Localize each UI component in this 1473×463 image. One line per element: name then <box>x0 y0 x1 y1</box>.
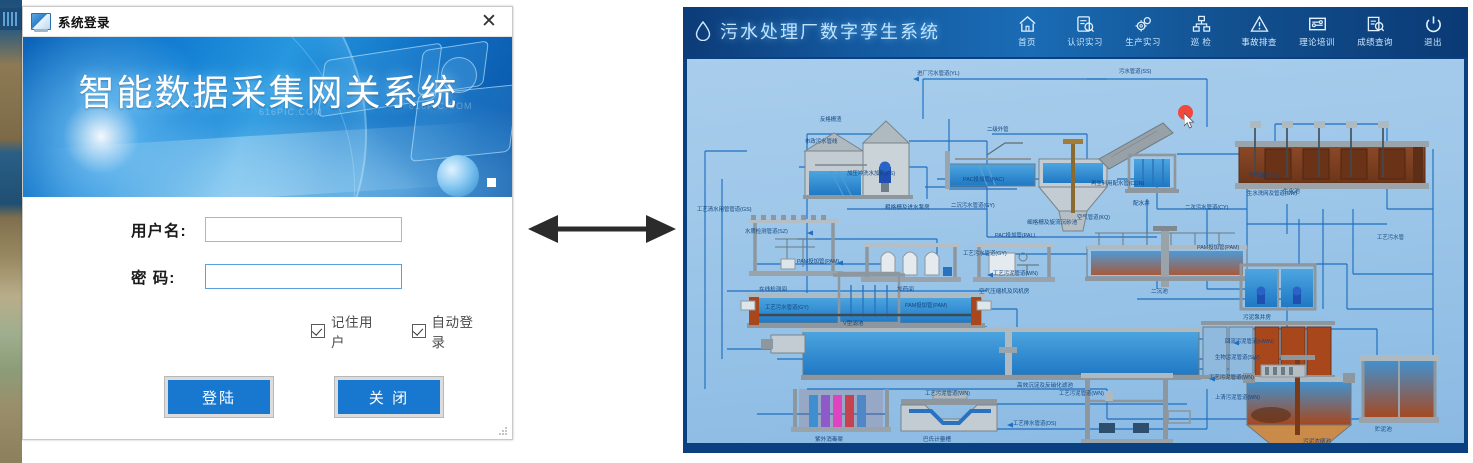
desktop-background-strip <box>0 0 22 463</box>
svg-text:PAM投加管(PAM): PAM投加管(PAM) <box>905 301 948 309</box>
svg-text:生物污泥管道(SW): 生物污泥管道(SW) <box>1215 353 1260 361</box>
svg-text:PAM投加管(PAM): PAM投加管(PAM) <box>1197 243 1240 251</box>
svg-text:再生利用配水管(CON): 再生利用配水管(CON) <box>1091 179 1145 187</box>
home-icon <box>1018 14 1037 33</box>
power-icon <box>1424 14 1443 33</box>
svg-text:工艺清水用管管道(GS): 工艺清水用管管道(GS) <box>697 205 752 213</box>
svg-text:空气管道(KQ): 空气管道(KQ) <box>1077 213 1110 221</box>
svg-text:空气压缩机及风机房: 空气压缩机及风机房 <box>979 287 1030 295</box>
window-title: 系统登录 <box>58 12 110 31</box>
svg-text:工艺污泥管道(WN): 工艺污泥管道(WN) <box>993 269 1038 277</box>
scada-header: 污水处理厂数字孪生系统 首页 认识实习 生产实习 <box>683 7 1468 57</box>
svg-text:紫外消毒渠: 紫外消毒渠 <box>815 435 843 443</box>
nav-item-accident-investigation[interactable]: 事故排查 <box>1230 11 1288 48</box>
svg-text:工艺污水管道(GY): 工艺污水管道(GY) <box>765 303 809 311</box>
report-search-icon <box>1366 14 1385 33</box>
nav-item-home[interactable]: 首页 <box>998 11 1056 48</box>
resize-grip[interactable] <box>499 427 508 436</box>
banner-square-accent <box>487 178 496 187</box>
svg-text:V型滤池: V型滤池 <box>843 319 864 327</box>
login-button[interactable]: 登陆 <box>165 377 273 417</box>
remember-user-label: 记住用户 <box>331 311 384 351</box>
login-form: 用户名: 密 码: 记住用户 自动登录 登陆 关 闭 <box>23 197 512 439</box>
password-row: 密 码: <box>131 242 512 289</box>
svg-text:加压冲洗水加药(FS): 加压冲洗水加药(FS) <box>847 169 895 177</box>
svg-text:生水洗网及管道(SW): 生水洗网及管道(SW) <box>1247 189 1297 197</box>
password-label: 密 码: <box>131 266 205 288</box>
svg-text:PAC投加管(PAC): PAC投加管(PAC) <box>963 175 1004 183</box>
svg-text:工艺污泥管道(WN): 工艺污泥管道(WN) <box>925 389 970 397</box>
brand: 污水处理厂数字孪生系统 <box>695 18 940 44</box>
close-icon[interactable]: ✕ <box>472 9 506 35</box>
svg-text:PAC投加管(PAL): PAC投加管(PAL) <box>995 231 1035 239</box>
nav-item-theory-training[interactable]: 理论培训 <box>1288 11 1346 48</box>
gears-icon <box>1134 14 1153 33</box>
svg-text:工艺污泥管道(WN): 工艺污泥管道(WN) <box>1059 389 1104 397</box>
nav-item-production-practice[interactable]: 生产实习 <box>1114 11 1172 48</box>
remember-user-checkbox[interactable]: 记住用户 <box>311 311 384 351</box>
svg-text:在线检测间: 在线检测间 <box>759 285 787 293</box>
nav-item-inspection[interactable]: 巡 检 <box>1172 11 1230 48</box>
checkmark-icon <box>311 324 325 338</box>
svg-text:空气输送(KQ): 空气输送(KQ) <box>1249 171 1282 179</box>
nav-label-logout: 退出 <box>1424 36 1442 48</box>
username-input[interactable] <box>205 217 402 242</box>
svg-text:工艺排水管道(DS): 工艺排水管道(DS) <box>1013 419 1057 427</box>
svg-text:巴氏计量槽: 巴氏计量槽 <box>923 435 951 443</box>
transition-arrow-icon <box>528 212 676 246</box>
svg-text:回流污泥管道(HWN): 回流污泥管道(HWN) <box>1225 337 1274 345</box>
nav-item-cognitive-practice[interactable]: 认识实习 <box>1056 11 1114 48</box>
username-row: 用户名: <box>131 197 512 242</box>
svg-text:加药间: 加药间 <box>897 285 914 293</box>
svg-text:反格栅渣: 反格栅渣 <box>820 115 842 123</box>
svg-text:工艺污泥管道(WN): 工艺污泥管道(WN) <box>1209 373 1254 381</box>
scada-nav: 首页 认识实习 生产实习 巡 检 <box>998 11 1462 48</box>
auto-login-label: 自动登录 <box>432 311 485 351</box>
nav-label-score-query: 成绩查询 <box>1357 36 1393 48</box>
nav-item-score-query[interactable]: 成绩查询 <box>1346 11 1404 48</box>
checkmark-icon <box>412 324 426 338</box>
login-banner: 616PIC.COM 616PIC.COM 616PIC.COM 智能数据采集网… <box>23 37 512 197</box>
svg-text:工艺污水管道(GY): 工艺污水管道(GY) <box>963 249 1007 257</box>
wastewater-process-diagram: 进厂污水管道(YL) 污水管道(SS) 二级外管 反格栅渣 市政污水管线 粗格栅… <box>687 59 1464 443</box>
username-label: 用户名: <box>131 219 205 241</box>
warning-triangle-icon <box>1250 14 1269 33</box>
svg-text:污水管道(SS): 污水管道(SS) <box>1119 67 1152 75</box>
svg-text:进厂污水管道(YL): 进厂污水管道(YL) <box>917 69 960 77</box>
auto-login-checkbox[interactable]: 自动登录 <box>412 311 485 351</box>
close-button[interactable]: 关 闭 <box>335 377 443 417</box>
svg-text:二沉池: 二沉池 <box>1151 287 1168 295</box>
login-titlebar: 系统登录 ✕ <box>23 7 512 37</box>
login-button-row: 登陆 关 闭 <box>165 351 512 417</box>
nav-label-theory-training: 理论培训 <box>1299 36 1335 48</box>
svg-text:污泥泵井房: 污泥泵井房 <box>1243 313 1271 321</box>
svg-text:二次污水管道(CY): 二次污水管道(CY) <box>1185 203 1229 211</box>
nav-label-inspection: 巡 检 <box>1191 36 1212 48</box>
scada-window: 污水处理厂数字孪生系统 首页 认识实习 生产实习 <box>681 5 1470 455</box>
login-options-row: 记住用户 自动登录 <box>311 289 512 351</box>
brand-title: 污水处理厂数字孪生系统 <box>720 18 940 44</box>
nav-label-accident-investigation: 事故排查 <box>1241 36 1277 48</box>
nav-label-cognitive-practice: 认识实习 <box>1067 36 1103 48</box>
slide-board-icon <box>1308 14 1327 33</box>
password-input[interactable] <box>205 264 402 289</box>
monitor-icon <box>31 13 51 30</box>
svg-text:市政污水管线: 市政污水管线 <box>805 137 838 145</box>
svg-text:水质检测管道(SZ): 水质检测管道(SZ) <box>745 227 788 235</box>
svg-text:粗格栅及进水泵房: 粗格栅及进水泵房 <box>885 203 930 211</box>
svg-text:高效沉淀及反硝化滤池: 高效沉淀及反硝化滤池 <box>1017 381 1073 389</box>
document-search-icon <box>1076 14 1095 33</box>
mouse-cursor-icon <box>1184 113 1195 129</box>
svg-text:二沉污水管道(GY): 二沉污水管道(GY) <box>951 201 995 209</box>
nav-item-logout[interactable]: 退出 <box>1404 11 1462 48</box>
nav-label-production-practice: 生产实习 <box>1125 36 1161 48</box>
sitemap-icon <box>1192 14 1211 33</box>
svg-text:PAM投加管(PAM): PAM投加管(PAM) <box>797 257 840 265</box>
svg-text:工艺污水管: 工艺污水管 <box>1377 233 1405 241</box>
taskbar-stub <box>0 8 22 30</box>
water-drop-icon <box>695 21 711 41</box>
svg-text:上清污泥管道(WN): 上清污泥管道(WN) <box>1215 393 1260 401</box>
svg-text:二级外管: 二级外管 <box>987 125 1009 133</box>
nav-label-home: 首页 <box>1018 36 1036 48</box>
svg-text:配水井: 配水井 <box>1133 199 1150 207</box>
svg-text:贮泥池: 贮泥池 <box>1375 425 1392 433</box>
process-diagram-canvas[interactable]: 进厂污水管道(YL) 污水管道(SS) 二级外管 反格栅渣 市政污水管线 粗格栅… <box>687 59 1464 443</box>
svg-text:细格栅及旋流沉砂池: 细格栅及旋流沉砂池 <box>1027 218 1078 226</box>
banner-title: 智能数据采集网关系统 <box>43 75 494 111</box>
login-window: 系统登录 ✕ 616PIC.COM 616PIC.COM 616PIC.COM … <box>22 6 513 440</box>
